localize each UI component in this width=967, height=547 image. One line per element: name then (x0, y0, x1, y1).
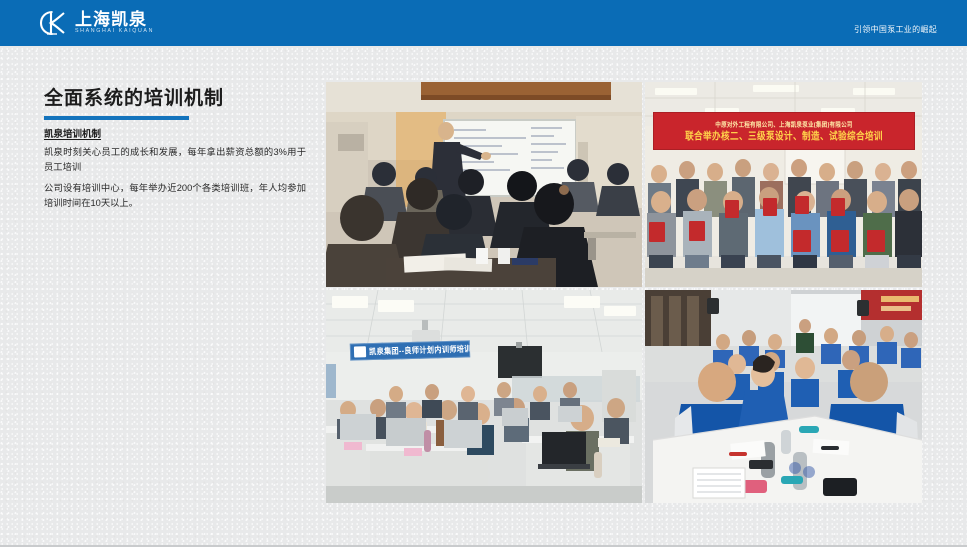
photo-computer-room-image (326, 290, 642, 503)
photo-internal-trainer-program[interactable]: 凯泉集团--良师计划内训师培训 (326, 290, 642, 503)
body-paragraph-1: 凯泉时刻关心员工的成长和发展，每年拿出薪资总额的3%用于员工培训 (44, 145, 306, 175)
header-bar: 上海凯泉 SHANGHAI KAIQUAN 引领中国泵工业的崛起 (0, 0, 967, 46)
blue-banner-text: 凯泉集团--良师计划内训师培训 (369, 343, 470, 357)
photo-grid: 中原对外工程有限公司、上海凯泉泵业(集团)有限公司 联合举办核二、三级泵设计、制… (326, 82, 922, 503)
blue-banner: 凯泉集团--良师计划内训师培训 (350, 340, 470, 360)
title-underline-rule (44, 116, 189, 120)
red-banner-line-2: 联合举办核二、三级泵设计、制造、试验综合培训 (685, 129, 883, 143)
logo-text-cn: 上海凯泉 (75, 11, 153, 28)
company-logo[interactable]: 上海凯泉 SHANGHAI KAIQUAN (38, 9, 153, 37)
photo-lecture-classroom[interactable] (326, 82, 642, 287)
body-heading: 凯泉培训机制 (44, 128, 306, 142)
red-banner: 中原对外工程有限公司、上海凯泉泵业(集团)有限公司 联合举办核二、三级泵设计、制… (653, 112, 915, 150)
body-paragraph-2: 公司设有培训中心，每年举办近200个各类培训班，年人均参加培训时间在10天以上。 (44, 181, 306, 211)
banner-logo-mark-icon (354, 346, 366, 357)
slide-canvas: 上海凯泉 SHANGHAI KAIQUAN 引领中国泵工业的崛起 全面系统的培训… (0, 0, 967, 547)
photo-workshop-discussion[interactable] (645, 290, 922, 503)
body-text-block: 凯泉培训机制 凯泉时刻关心员工的成长和发展，每年拿出薪资总额的3%用于员工培训 … (44, 128, 306, 217)
photo-lecture-classroom-image (326, 82, 642, 287)
photo-workshop-image (645, 290, 922, 503)
page-title: 全面系统的培训机制 (44, 86, 304, 112)
photo-nuclear-pump-training-group[interactable]: 中原对外工程有限公司、上海凯泉泵业(集团)有限公司 联合举办核二、三级泵设计、制… (645, 82, 922, 287)
title-block: 全面系统的培训机制 (44, 86, 304, 120)
header-tagline: 引领中国泵工业的崛起 (854, 24, 937, 35)
logo-text-en: SHANGHAI KAIQUAN (75, 28, 154, 35)
red-banner-line-1: 中原对外工程有限公司、上海凯泉泵业(集团)有限公司 (715, 119, 852, 128)
kaiquan-k-mark-icon (38, 9, 68, 37)
